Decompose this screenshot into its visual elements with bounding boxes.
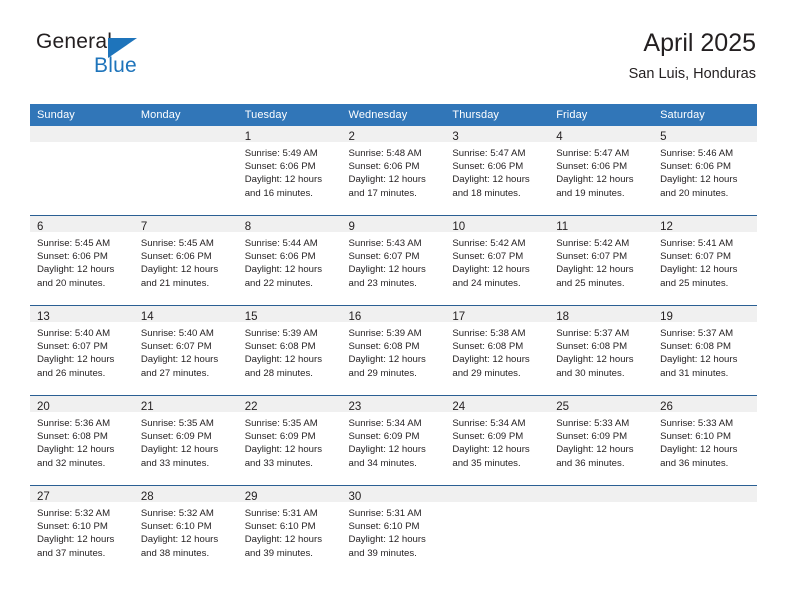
calendar-week-row: 6Sunrise: 5:45 AMSunset: 6:06 PMDaylight… [30, 216, 757, 306]
day-details: Sunrise: 5:35 AMSunset: 6:09 PMDaylight:… [238, 412, 342, 470]
calendar-day-cell[interactable]: 30Sunrise: 5:31 AMSunset: 6:10 PMDayligh… [342, 486, 446, 576]
day-details: Sunrise: 5:38 AMSunset: 6:08 PMDaylight:… [445, 322, 549, 380]
sunrise-text: Sunrise: 5:32 AM [37, 507, 128, 520]
day-number: 1 [245, 131, 251, 143]
day-number: 17 [452, 311, 465, 323]
sunset-text: Sunset: 6:08 PM [556, 340, 647, 353]
sunset-text: Sunset: 6:06 PM [245, 160, 336, 173]
day-number: 2 [349, 131, 355, 143]
daylight-text-line2: and 16 minutes. [245, 187, 336, 200]
day-details: Sunrise: 5:36 AMSunset: 6:08 PMDaylight:… [30, 412, 134, 470]
day-number: 27 [37, 491, 50, 503]
daylight-text-line2: and 28 minutes. [245, 367, 336, 380]
calendar-page: General Blue April 2025 San Luis, Hondur… [0, 0, 792, 612]
daylight-text-line2: and 36 minutes. [660, 457, 751, 470]
daylight-text-line2: and 21 minutes. [141, 277, 232, 290]
sunrise-text: Sunrise: 5:47 AM [556, 147, 647, 160]
day-details: Sunrise: 5:34 AMSunset: 6:09 PMDaylight:… [445, 412, 549, 470]
day-number: 11 [556, 221, 568, 233]
day-details: Sunrise: 5:37 AMSunset: 6:08 PMDaylight:… [653, 322, 757, 380]
sunset-text: Sunset: 6:08 PM [660, 340, 751, 353]
sunset-text: Sunset: 6:06 PM [556, 160, 647, 173]
calendar-day-cell[interactable]: 1Sunrise: 5:49 AMSunset: 6:06 PMDaylight… [238, 126, 342, 216]
day-cell-content: 1Sunrise: 5:49 AMSunset: 6:06 PMDaylight… [238, 126, 342, 215]
day-cell-content [445, 486, 549, 575]
calendar-day-cell[interactable]: 5Sunrise: 5:46 AMSunset: 6:06 PMDaylight… [653, 126, 757, 216]
sunset-text: Sunset: 6:10 PM [141, 520, 232, 533]
day-cell-content: 24Sunrise: 5:34 AMSunset: 6:09 PMDayligh… [445, 396, 549, 485]
sunrise-text: Sunrise: 5:31 AM [349, 507, 440, 520]
logo-text-general: General [36, 30, 112, 54]
day-number-strip [134, 126, 238, 142]
sunrise-text: Sunrise: 5:36 AM [37, 417, 128, 430]
daylight-text-line2: and 22 minutes. [245, 277, 336, 290]
day-number: 20 [37, 401, 50, 413]
calendar-day-cell[interactable]: 3Sunrise: 5:47 AMSunset: 6:06 PMDaylight… [445, 126, 549, 216]
sunrise-text: Sunrise: 5:47 AM [452, 147, 543, 160]
day-number: 4 [556, 131, 562, 143]
calendar-day-cell[interactable]: 26Sunrise: 5:33 AMSunset: 6:10 PMDayligh… [653, 396, 757, 486]
daylight-text-line2: and 24 minutes. [452, 277, 543, 290]
daylight-text-line2: and 39 minutes. [349, 547, 440, 560]
day-cell-content: 21Sunrise: 5:35 AMSunset: 6:09 PMDayligh… [134, 396, 238, 485]
sunrise-text: Sunrise: 5:40 AM [37, 327, 128, 340]
day-number: 18 [556, 311, 569, 323]
sunrise-text: Sunrise: 5:42 AM [556, 237, 647, 250]
day-cell-content: 28Sunrise: 5:32 AMSunset: 6:10 PMDayligh… [134, 486, 238, 575]
daylight-text-line1: Daylight: 12 hours [349, 263, 440, 276]
daylight-text-line1: Daylight: 12 hours [245, 533, 336, 546]
calendar-table: SundayMondayTuesdayWednesdayThursdayFrid… [30, 104, 757, 575]
daylight-text-line1: Daylight: 12 hours [349, 443, 440, 456]
page-subtitle: San Luis, Honduras [629, 64, 756, 84]
daylight-text-line1: Daylight: 12 hours [245, 173, 336, 186]
day-cell-content: 16Sunrise: 5:39 AMSunset: 6:08 PMDayligh… [342, 306, 446, 395]
calendar-day-cell[interactable]: 22Sunrise: 5:35 AMSunset: 6:09 PMDayligh… [238, 396, 342, 486]
daylight-text-line1: Daylight: 12 hours [452, 443, 543, 456]
day-number-strip: 5 [653, 126, 757, 142]
calendar-empty-cell [30, 126, 134, 216]
day-cell-content [30, 126, 134, 215]
calendar-day-cell[interactable]: 23Sunrise: 5:34 AMSunset: 6:09 PMDayligh… [342, 396, 446, 486]
day-cell-content: 17Sunrise: 5:38 AMSunset: 6:08 PMDayligh… [445, 306, 549, 395]
day-cell-content: 9Sunrise: 5:43 AMSunset: 6:07 PMDaylight… [342, 216, 446, 305]
day-number-strip: 21 [134, 396, 238, 412]
sunset-text: Sunset: 6:10 PM [349, 520, 440, 533]
day-number: 28 [141, 491, 154, 503]
calendar-grid: SundayMondayTuesdayWednesdayThursdayFrid… [30, 104, 757, 575]
day-details: Sunrise: 5:39 AMSunset: 6:08 PMDaylight:… [342, 322, 446, 380]
calendar-day-cell[interactable]: 16Sunrise: 5:39 AMSunset: 6:08 PMDayligh… [342, 306, 446, 396]
day-details: Sunrise: 5:32 AMSunset: 6:10 PMDaylight:… [30, 502, 134, 560]
daylight-text-line1: Daylight: 12 hours [37, 353, 128, 366]
day-details: Sunrise: 5:40 AMSunset: 6:07 PMDaylight:… [134, 322, 238, 380]
daylight-text-line1: Daylight: 12 hours [349, 173, 440, 186]
daylight-text-line2: and 30 minutes. [556, 367, 647, 380]
day-cell-content [134, 126, 238, 215]
calendar-day-cell[interactable]: 25Sunrise: 5:33 AMSunset: 6:09 PMDayligh… [549, 396, 653, 486]
calendar-day-cell[interactable]: 20Sunrise: 5:36 AMSunset: 6:08 PMDayligh… [30, 396, 134, 486]
day-details: Sunrise: 5:47 AMSunset: 6:06 PMDaylight:… [445, 142, 549, 200]
general-blue-logo[interactable]: General Blue [36, 30, 216, 88]
day-details [445, 502, 549, 507]
weekday-header-thursday: Thursday [445, 104, 549, 126]
sunset-text: Sunset: 6:10 PM [245, 520, 336, 533]
day-cell-content: 11Sunrise: 5:42 AMSunset: 6:07 PMDayligh… [549, 216, 653, 305]
day-number: 25 [556, 401, 569, 413]
day-number: 10 [452, 221, 465, 233]
sunset-text: Sunset: 6:10 PM [37, 520, 128, 533]
day-cell-content: 18Sunrise: 5:37 AMSunset: 6:08 PMDayligh… [549, 306, 653, 395]
sunrise-text: Sunrise: 5:44 AM [245, 237, 336, 250]
sunrise-text: Sunrise: 5:37 AM [556, 327, 647, 340]
daylight-text-line1: Daylight: 12 hours [37, 443, 128, 456]
calendar-empty-cell [134, 126, 238, 216]
day-details: Sunrise: 5:31 AMSunset: 6:10 PMDaylight:… [238, 502, 342, 560]
sunset-text: Sunset: 6:06 PM [660, 160, 751, 173]
daylight-text-line1: Daylight: 12 hours [556, 353, 647, 366]
day-details: Sunrise: 5:49 AMSunset: 6:06 PMDaylight:… [238, 142, 342, 200]
calendar-day-cell[interactable]: 18Sunrise: 5:37 AMSunset: 6:08 PMDayligh… [549, 306, 653, 396]
sunset-text: Sunset: 6:08 PM [452, 340, 543, 353]
calendar-day-cell[interactable]: 7Sunrise: 5:45 AMSunset: 6:06 PMDaylight… [134, 216, 238, 306]
day-number-strip: 29 [238, 486, 342, 502]
day-cell-content: 15Sunrise: 5:39 AMSunset: 6:08 PMDayligh… [238, 306, 342, 395]
day-number-strip: 3 [445, 126, 549, 142]
day-number-strip [445, 486, 549, 502]
daylight-text-line1: Daylight: 12 hours [556, 263, 647, 276]
day-details [549, 502, 653, 507]
calendar-day-cell[interactable]: 8Sunrise: 5:44 AMSunset: 6:06 PMDaylight… [238, 216, 342, 306]
sunrise-text: Sunrise: 5:31 AM [245, 507, 336, 520]
day-number: 21 [141, 401, 154, 413]
day-number-strip: 8 [238, 216, 342, 232]
day-details: Sunrise: 5:33 AMSunset: 6:09 PMDaylight:… [549, 412, 653, 470]
daylight-text-line2: and 33 minutes. [245, 457, 336, 470]
day-number-strip: 19 [653, 306, 757, 322]
sunset-text: Sunset: 6:09 PM [556, 430, 647, 443]
day-cell-content [653, 486, 757, 575]
day-details: Sunrise: 5:33 AMSunset: 6:10 PMDaylight:… [653, 412, 757, 470]
sunset-text: Sunset: 6:09 PM [349, 430, 440, 443]
sunrise-text: Sunrise: 5:38 AM [452, 327, 543, 340]
day-number: 23 [349, 401, 362, 413]
sunset-text: Sunset: 6:06 PM [141, 250, 232, 263]
day-cell-content: 5Sunrise: 5:46 AMSunset: 6:06 PMDaylight… [653, 126, 757, 215]
sunrise-text: Sunrise: 5:35 AM [245, 417, 336, 430]
calendar-week-row: 1Sunrise: 5:49 AMSunset: 6:06 PMDaylight… [30, 126, 757, 216]
calendar-empty-cell [445, 486, 549, 576]
daylight-text-line2: and 27 minutes. [141, 367, 232, 380]
sunset-text: Sunset: 6:06 PM [245, 250, 336, 263]
daylight-text-line2: and 36 minutes. [556, 457, 647, 470]
daylight-text-line1: Daylight: 12 hours [37, 263, 128, 276]
calendar-day-cell[interactable]: 17Sunrise: 5:38 AMSunset: 6:08 PMDayligh… [445, 306, 549, 396]
day-number-strip: 28 [134, 486, 238, 502]
day-number-strip: 18 [549, 306, 653, 322]
day-details: Sunrise: 5:44 AMSunset: 6:06 PMDaylight:… [238, 232, 342, 290]
calendar-day-cell[interactable]: 24Sunrise: 5:34 AMSunset: 6:09 PMDayligh… [445, 396, 549, 486]
daylight-text-line2: and 26 minutes. [37, 367, 128, 380]
sunrise-text: Sunrise: 5:45 AM [37, 237, 128, 250]
day-number-strip: 12 [653, 216, 757, 232]
day-details [653, 502, 757, 507]
day-cell-content: 22Sunrise: 5:35 AMSunset: 6:09 PMDayligh… [238, 396, 342, 485]
sunset-text: Sunset: 6:07 PM [452, 250, 543, 263]
day-details: Sunrise: 5:34 AMSunset: 6:09 PMDaylight:… [342, 412, 446, 470]
day-number-strip: 27 [30, 486, 134, 502]
day-number-strip: 23 [342, 396, 446, 412]
daylight-text-line2: and 35 minutes. [452, 457, 543, 470]
day-cell-content [549, 486, 653, 575]
daylight-text-line1: Daylight: 12 hours [660, 443, 751, 456]
day-number-strip: 11 [549, 216, 653, 232]
day-number: 24 [452, 401, 465, 413]
day-cell-content: 2Sunrise: 5:48 AMSunset: 6:06 PMDaylight… [342, 126, 446, 215]
weekday-header-saturday: Saturday [653, 104, 757, 126]
calendar-header-row: SundayMondayTuesdayWednesdayThursdayFrid… [30, 104, 757, 126]
daylight-text-line2: and 20 minutes. [660, 187, 751, 200]
calendar-week-row: 13Sunrise: 5:40 AMSunset: 6:07 PMDayligh… [30, 306, 757, 396]
daylight-text-line1: Daylight: 12 hours [452, 263, 543, 276]
day-number: 3 [452, 131, 458, 143]
day-number: 9 [349, 221, 355, 233]
sunset-text: Sunset: 6:08 PM [245, 340, 336, 353]
title-block: April 2025 San Luis, Honduras [629, 28, 756, 84]
daylight-text-line2: and 34 minutes. [349, 457, 440, 470]
sunset-text: Sunset: 6:06 PM [452, 160, 543, 173]
daylight-text-line1: Daylight: 12 hours [660, 263, 751, 276]
sunset-text: Sunset: 6:07 PM [141, 340, 232, 353]
day-number-strip: 14 [134, 306, 238, 322]
calendar-day-cell[interactable]: 9Sunrise: 5:43 AMSunset: 6:07 PMDaylight… [342, 216, 446, 306]
day-number-strip: 13 [30, 306, 134, 322]
day-cell-content: 29Sunrise: 5:31 AMSunset: 6:10 PMDayligh… [238, 486, 342, 575]
page-header: General Blue April 2025 San Luis, Hondur… [0, 0, 792, 104]
day-number-strip: 2 [342, 126, 446, 142]
daylight-text-line1: Daylight: 12 hours [245, 443, 336, 456]
sunset-text: Sunset: 6:10 PM [660, 430, 751, 443]
day-details: Sunrise: 5:45 AMSunset: 6:06 PMDaylight:… [134, 232, 238, 290]
day-cell-content: 4Sunrise: 5:47 AMSunset: 6:06 PMDaylight… [549, 126, 653, 215]
daylight-text-line1: Daylight: 12 hours [452, 353, 543, 366]
day-cell-content: 14Sunrise: 5:40 AMSunset: 6:07 PMDayligh… [134, 306, 238, 395]
day-details: Sunrise: 5:42 AMSunset: 6:07 PMDaylight:… [549, 232, 653, 290]
day-number-strip: 17 [445, 306, 549, 322]
day-number-strip: 7 [134, 216, 238, 232]
day-number-strip: 20 [30, 396, 134, 412]
day-number-strip: 25 [549, 396, 653, 412]
sunset-text: Sunset: 6:06 PM [37, 250, 128, 263]
calendar-body: 1Sunrise: 5:49 AMSunset: 6:06 PMDaylight… [30, 126, 757, 575]
day-number: 13 [37, 311, 50, 323]
page-title: April 2025 [629, 28, 756, 58]
day-number-strip [653, 486, 757, 502]
sunrise-text: Sunrise: 5:41 AM [660, 237, 751, 250]
sunset-text: Sunset: 6:07 PM [37, 340, 128, 353]
daylight-text-line1: Daylight: 12 hours [660, 173, 751, 186]
weekday-header-friday: Friday [549, 104, 653, 126]
day-cell-content: 27Sunrise: 5:32 AMSunset: 6:10 PMDayligh… [30, 486, 134, 575]
day-number: 29 [245, 491, 258, 503]
day-cell-content: 7Sunrise: 5:45 AMSunset: 6:06 PMDaylight… [134, 216, 238, 305]
sunrise-text: Sunrise: 5:34 AM [452, 417, 543, 430]
sunset-text: Sunset: 6:08 PM [349, 340, 440, 353]
daylight-text-line1: Daylight: 12 hours [141, 353, 232, 366]
day-number-strip: 9 [342, 216, 446, 232]
daylight-text-line1: Daylight: 12 hours [349, 533, 440, 546]
daylight-text-line2: and 38 minutes. [141, 547, 232, 560]
sunrise-text: Sunrise: 5:48 AM [349, 147, 440, 160]
calendar-day-cell[interactable]: 29Sunrise: 5:31 AMSunset: 6:10 PMDayligh… [238, 486, 342, 576]
sunrise-text: Sunrise: 5:39 AM [349, 327, 440, 340]
day-number: 26 [660, 401, 673, 413]
day-number-strip [30, 126, 134, 142]
sunset-text: Sunset: 6:07 PM [349, 250, 440, 263]
daylight-text-line2: and 39 minutes. [245, 547, 336, 560]
day-cell-content: 8Sunrise: 5:44 AMSunset: 6:06 PMDaylight… [238, 216, 342, 305]
day-cell-content: 25Sunrise: 5:33 AMSunset: 6:09 PMDayligh… [549, 396, 653, 485]
day-number-strip [549, 486, 653, 502]
sunset-text: Sunset: 6:06 PM [349, 160, 440, 173]
daylight-text-line2: and 18 minutes. [452, 187, 543, 200]
day-number-strip: 6 [30, 216, 134, 232]
day-details: Sunrise: 5:39 AMSunset: 6:08 PMDaylight:… [238, 322, 342, 380]
day-details: Sunrise: 5:43 AMSunset: 6:07 PMDaylight:… [342, 232, 446, 290]
calendar-week-row: 20Sunrise: 5:36 AMSunset: 6:08 PMDayligh… [30, 396, 757, 486]
weekday-header-row: SundayMondayTuesdayWednesdayThursdayFrid… [30, 104, 757, 126]
day-number-strip: 24 [445, 396, 549, 412]
calendar-day-cell[interactable]: 10Sunrise: 5:42 AMSunset: 6:07 PMDayligh… [445, 216, 549, 306]
sunrise-text: Sunrise: 5:49 AM [245, 147, 336, 160]
weekday-header-sunday: Sunday [30, 104, 134, 126]
daylight-text-line2: and 32 minutes. [37, 457, 128, 470]
day-number-strip: 4 [549, 126, 653, 142]
day-details: Sunrise: 5:35 AMSunset: 6:09 PMDaylight:… [134, 412, 238, 470]
sunrise-text: Sunrise: 5:34 AM [349, 417, 440, 430]
day-number: 14 [141, 311, 154, 323]
day-cell-content: 20Sunrise: 5:36 AMSunset: 6:08 PMDayligh… [30, 396, 134, 485]
sunrise-text: Sunrise: 5:37 AM [660, 327, 751, 340]
day-cell-content: 10Sunrise: 5:42 AMSunset: 6:07 PMDayligh… [445, 216, 549, 305]
daylight-text-line1: Daylight: 12 hours [245, 263, 336, 276]
day-details: Sunrise: 5:48 AMSunset: 6:06 PMDaylight:… [342, 142, 446, 200]
sunset-text: Sunset: 6:09 PM [452, 430, 543, 443]
logo-text-blue: Blue [94, 54, 137, 78]
day-details: Sunrise: 5:40 AMSunset: 6:07 PMDaylight:… [30, 322, 134, 380]
day-details [30, 142, 134, 147]
day-number: 15 [245, 311, 258, 323]
calendar-empty-cell [653, 486, 757, 576]
daylight-text-line1: Daylight: 12 hours [141, 533, 232, 546]
calendar-day-cell[interactable]: 12Sunrise: 5:41 AMSunset: 6:07 PMDayligh… [653, 216, 757, 306]
daylight-text-line1: Daylight: 12 hours [452, 173, 543, 186]
day-number-strip: 1 [238, 126, 342, 142]
weekday-header-tuesday: Tuesday [238, 104, 342, 126]
sunset-text: Sunset: 6:08 PM [37, 430, 128, 443]
day-details: Sunrise: 5:42 AMSunset: 6:07 PMDaylight:… [445, 232, 549, 290]
sunset-text: Sunset: 6:07 PM [660, 250, 751, 263]
daylight-text-line1: Daylight: 12 hours [245, 353, 336, 366]
daylight-text-line2: and 31 minutes. [660, 367, 751, 380]
sunset-text: Sunset: 6:09 PM [141, 430, 232, 443]
day-cell-content: 13Sunrise: 5:40 AMSunset: 6:07 PMDayligh… [30, 306, 134, 395]
daylight-text-line2: and 25 minutes. [556, 277, 647, 290]
day-cell-content: 19Sunrise: 5:37 AMSunset: 6:08 PMDayligh… [653, 306, 757, 395]
calendar-day-cell[interactable]: 27Sunrise: 5:32 AMSunset: 6:10 PMDayligh… [30, 486, 134, 576]
calendar-day-cell[interactable]: 21Sunrise: 5:35 AMSunset: 6:09 PMDayligh… [134, 396, 238, 486]
day-cell-content: 30Sunrise: 5:31 AMSunset: 6:10 PMDayligh… [342, 486, 446, 575]
weekday-header-monday: Monday [134, 104, 238, 126]
calendar-day-cell[interactable]: 15Sunrise: 5:39 AMSunset: 6:08 PMDayligh… [238, 306, 342, 396]
daylight-text-line1: Daylight: 12 hours [349, 353, 440, 366]
daylight-text-line1: Daylight: 12 hours [141, 263, 232, 276]
calendar-day-cell[interactable]: 13Sunrise: 5:40 AMSunset: 6:07 PMDayligh… [30, 306, 134, 396]
sunrise-text: Sunrise: 5:42 AM [452, 237, 543, 250]
day-cell-content: 3Sunrise: 5:47 AMSunset: 6:06 PMDaylight… [445, 126, 549, 215]
sunset-text: Sunset: 6:07 PM [556, 250, 647, 263]
daylight-text-line1: Daylight: 12 hours [556, 173, 647, 186]
day-details: Sunrise: 5:32 AMSunset: 6:10 PMDaylight:… [134, 502, 238, 560]
day-number: 8 [245, 221, 251, 233]
day-number-strip: 30 [342, 486, 446, 502]
day-details: Sunrise: 5:31 AMSunset: 6:10 PMDaylight:… [342, 502, 446, 560]
day-details [134, 142, 238, 147]
calendar-day-cell[interactable]: 11Sunrise: 5:42 AMSunset: 6:07 PMDayligh… [549, 216, 653, 306]
day-number-strip: 22 [238, 396, 342, 412]
sunrise-text: Sunrise: 5:32 AM [141, 507, 232, 520]
day-cell-content: 6Sunrise: 5:45 AMSunset: 6:06 PMDaylight… [30, 216, 134, 305]
calendar-empty-cell [549, 486, 653, 576]
daylight-text-line1: Daylight: 12 hours [141, 443, 232, 456]
day-details: Sunrise: 5:45 AMSunset: 6:06 PMDaylight:… [30, 232, 134, 290]
calendar-day-cell[interactable]: 4Sunrise: 5:47 AMSunset: 6:06 PMDaylight… [549, 126, 653, 216]
daylight-text-line2: and 37 minutes. [37, 547, 128, 560]
day-details: Sunrise: 5:41 AMSunset: 6:07 PMDaylight:… [653, 232, 757, 290]
daylight-text-line2: and 17 minutes. [349, 187, 440, 200]
calendar-day-cell[interactable]: 28Sunrise: 5:32 AMSunset: 6:10 PMDayligh… [134, 486, 238, 576]
daylight-text-line1: Daylight: 12 hours [660, 353, 751, 366]
day-details: Sunrise: 5:47 AMSunset: 6:06 PMDaylight:… [549, 142, 653, 200]
day-details: Sunrise: 5:37 AMSunset: 6:08 PMDaylight:… [549, 322, 653, 380]
sunrise-text: Sunrise: 5:33 AM [660, 417, 751, 430]
sunrise-text: Sunrise: 5:35 AM [141, 417, 232, 430]
day-cell-content: 26Sunrise: 5:33 AMSunset: 6:10 PMDayligh… [653, 396, 757, 485]
daylight-text-line2: and 29 minutes. [349, 367, 440, 380]
day-number: 22 [245, 401, 258, 413]
day-details: Sunrise: 5:46 AMSunset: 6:06 PMDaylight:… [653, 142, 757, 200]
calendar-day-cell[interactable]: 19Sunrise: 5:37 AMSunset: 6:08 PMDayligh… [653, 306, 757, 396]
day-number: 7 [141, 221, 147, 233]
sunset-text: Sunset: 6:09 PM [245, 430, 336, 443]
daylight-text-line2: and 33 minutes. [141, 457, 232, 470]
sunrise-text: Sunrise: 5:39 AM [245, 327, 336, 340]
calendar-day-cell[interactable]: 14Sunrise: 5:40 AMSunset: 6:07 PMDayligh… [134, 306, 238, 396]
sunrise-text: Sunrise: 5:43 AM [349, 237, 440, 250]
day-number: 19 [660, 311, 673, 323]
calendar-day-cell[interactable]: 6Sunrise: 5:45 AMSunset: 6:06 PMDaylight… [30, 216, 134, 306]
sunrise-text: Sunrise: 5:46 AM [660, 147, 751, 160]
sunrise-text: Sunrise: 5:33 AM [556, 417, 647, 430]
calendar-week-row: 27Sunrise: 5:32 AMSunset: 6:10 PMDayligh… [30, 486, 757, 576]
calendar-day-cell[interactable]: 2Sunrise: 5:48 AMSunset: 6:06 PMDaylight… [342, 126, 446, 216]
day-number-strip: 26 [653, 396, 757, 412]
day-cell-content: 23Sunrise: 5:34 AMSunset: 6:09 PMDayligh… [342, 396, 446, 485]
daylight-text-line1: Daylight: 12 hours [556, 443, 647, 456]
daylight-text-line1: Daylight: 12 hours [37, 533, 128, 546]
day-number: 12 [660, 221, 673, 233]
daylight-text-line2: and 19 minutes. [556, 187, 647, 200]
